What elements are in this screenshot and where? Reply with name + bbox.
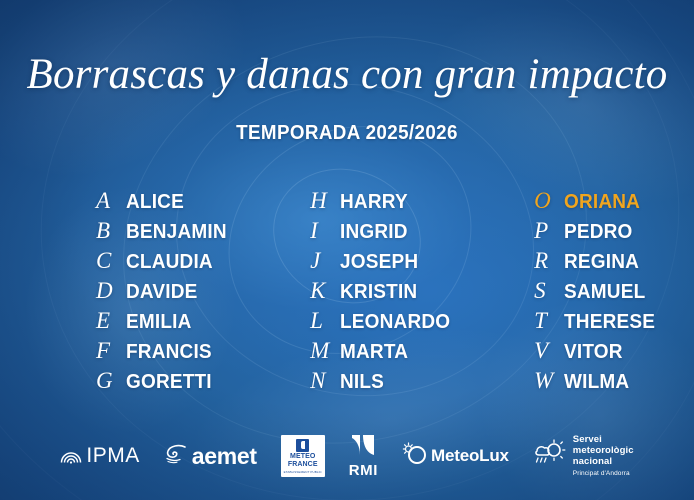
- andorra-label-line2: meteorològic: [573, 445, 634, 456]
- storm-name-letter: F: [96, 336, 126, 366]
- storm-name-label: HARRY: [340, 187, 408, 217]
- storm-name-row[interactable]: NNILS: [310, 366, 456, 396]
- poster-canvas: Borrascas y danas con gran impacto TEMPO…: [0, 0, 694, 500]
- storm-name-label: ORIANA: [564, 187, 640, 217]
- storm-name-columns: AALICEBBENJAMINCCLAUDIADDAVIDEEEMILIAFFR…: [96, 186, 694, 396]
- meteo-france-mark-icon: [296, 439, 309, 452]
- storm-name-row[interactable]: WWILMA: [534, 366, 660, 396]
- meteo-france-label-line1: METEO: [290, 453, 315, 461]
- storm-name-label: CLAUDIA: [126, 247, 213, 277]
- agency-logo-strip: IPMA aemet METEO FRANCE ETABLISSEMEN: [0, 428, 694, 484]
- storm-name-label: VITOR: [564, 337, 623, 367]
- storm-name-row[interactable]: FFRANCIS: [96, 336, 232, 366]
- storm-name-row[interactable]: JJOSEPH: [310, 246, 456, 276]
- storm-name-row[interactable]: LLEONARDO: [310, 306, 456, 336]
- storm-name-letter: W: [534, 366, 564, 396]
- season-subtitle: TEMPORADA 2025/2026: [21, 122, 673, 145]
- rmi-mark-icon: [350, 434, 376, 461]
- storm-name-letter: J: [310, 246, 340, 276]
- andorra-sublabel: Principat d'Andorra: [573, 469, 634, 479]
- storm-name-label: REGINA: [564, 247, 639, 277]
- storm-name-letter: C: [96, 246, 126, 276]
- storm-name-row[interactable]: CCLAUDIA: [96, 246, 232, 276]
- storm-name-label: INGRID: [340, 217, 408, 247]
- aemet-swirl-icon: [164, 443, 188, 470]
- storm-name-row[interactable]: SSAMUEL: [534, 276, 660, 306]
- storm-name-row[interactable]: RREGINA: [534, 246, 660, 276]
- storm-name-label: LEONARDO: [340, 307, 450, 337]
- storm-name-label: BENJAMIN: [126, 217, 227, 247]
- storm-name-row[interactable]: GGORETTI: [96, 366, 232, 396]
- storm-name-label: DAVIDE: [126, 277, 198, 307]
- andorra-label-line1: Servei: [573, 434, 634, 445]
- storm-name-letter: M: [310, 336, 340, 366]
- storm-name-label: MARTA: [340, 337, 408, 367]
- storm-name-letter: V: [534, 336, 564, 366]
- storm-name-label: WILMA: [564, 367, 629, 397]
- meteolux-label: MeteoLux: [431, 446, 509, 466]
- logo-ipma[interactable]: IPMA: [60, 433, 139, 479]
- meteo-france-label-line3: ETABLISSEMENT PUBLIC: [284, 470, 322, 474]
- page-title: Borrascas y danas con gran impacto: [0, 52, 694, 98]
- storm-name-letter: S: [534, 276, 564, 306]
- ipma-arc-icon: [60, 444, 82, 469]
- storm-name-letter: G: [96, 366, 126, 396]
- storm-name-row[interactable]: AALICE: [96, 186, 232, 216]
- storm-name-label: ALICE: [126, 187, 184, 217]
- storm-name-label: JOSEPH: [340, 247, 418, 277]
- storm-name-row[interactable]: KKRISTIN: [310, 276, 456, 306]
- storm-name-letter: R: [534, 246, 564, 276]
- logo-aemet[interactable]: aemet: [164, 433, 257, 479]
- storm-name-label: EMILIA: [126, 307, 192, 337]
- storm-name-letter: L: [310, 306, 340, 336]
- storm-name-label: KRISTIN: [340, 277, 417, 307]
- storm-name-row[interactable]: EEMILIA: [96, 306, 232, 336]
- andorra-label-line3: nacional: [573, 456, 634, 467]
- storm-name-letter: B: [96, 216, 126, 246]
- rmi-label: RMI: [349, 462, 378, 479]
- meteo-france-label-line2: FRANCE: [288, 461, 318, 469]
- storm-name-letter: E: [96, 306, 126, 336]
- storm-name-letter: P: [534, 216, 564, 246]
- storm-name-row[interactable]: DDAVIDE: [96, 276, 232, 306]
- logo-meteo-france[interactable]: METEO FRANCE ETABLISSEMENT PUBLIC: [281, 435, 325, 477]
- name-column: OORIANAPPEDRORREGINASSAMUELTTHERESEVVITO…: [534, 186, 660, 396]
- name-column: HHARRYIINGRIDJJOSEPHKKRISTINLLEONARDOMMA…: [310, 186, 456, 396]
- storm-name-row[interactable]: VVITOR: [534, 336, 660, 366]
- storm-name-letter: H: [310, 186, 340, 216]
- logo-rmi[interactable]: RMI: [349, 433, 378, 479]
- name-column: AALICEBBENJAMINCCLAUDIADDAVIDEEEMILIAFFR…: [96, 186, 232, 396]
- storm-name-row[interactable]: OORIANA: [534, 186, 660, 216]
- storm-name-label: GORETTI: [126, 367, 212, 397]
- storm-name-letter: N: [310, 366, 340, 396]
- storm-name-label: PEDRO: [564, 217, 633, 247]
- storm-name-letter: K: [310, 276, 340, 306]
- storm-name-label: THERESE: [564, 307, 655, 337]
- meteolux-sun-icon: [402, 442, 428, 471]
- storm-name-row[interactable]: BBENJAMIN: [96, 216, 232, 246]
- storm-name-label: NILS: [340, 367, 384, 397]
- andorra-weather-icon: [533, 437, 567, 476]
- storm-name-label: SAMUEL: [564, 277, 645, 307]
- storm-name-row[interactable]: TTHERESE: [534, 306, 660, 336]
- storm-name-row[interactable]: MMARTA: [310, 336, 456, 366]
- storm-name-letter: T: [534, 306, 564, 336]
- storm-name-letter: I: [310, 216, 340, 246]
- storm-name-row[interactable]: HHARRY: [310, 186, 456, 216]
- logo-andorra[interactable]: Servei meteorològic nacional Principat d…: [533, 433, 634, 479]
- storm-name-row[interactable]: IINGRID: [310, 216, 456, 246]
- storm-name-letter: D: [96, 276, 126, 306]
- aemet-label: aemet: [192, 443, 257, 470]
- storm-name-row[interactable]: PPEDRO: [534, 216, 660, 246]
- storm-name-letter: A: [96, 186, 126, 216]
- ipma-label: IPMA: [86, 444, 139, 468]
- storm-name-letter: O: [534, 186, 564, 216]
- logo-meteolux[interactable]: MeteoLux: [402, 433, 509, 479]
- storm-name-label: FRANCIS: [126, 337, 212, 367]
